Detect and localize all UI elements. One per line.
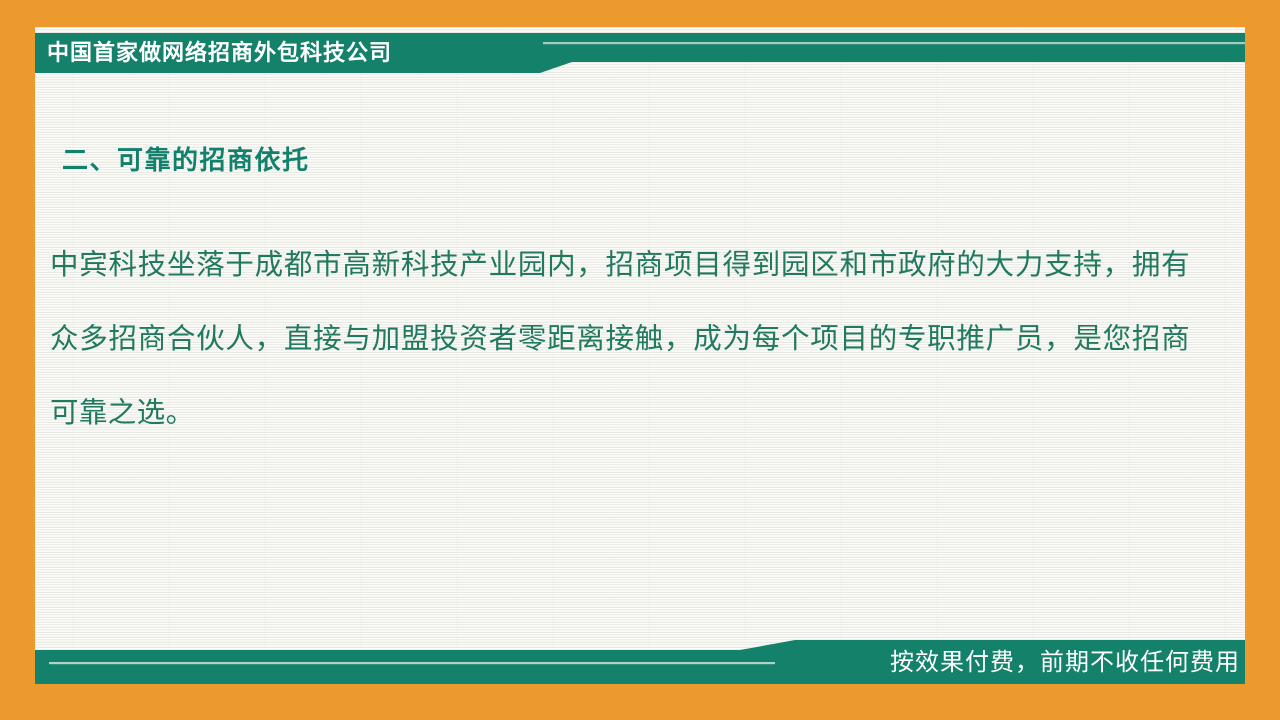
footer-tagline: 按效果付费，前期不收任何费用: [890, 647, 1240, 679]
body-paragraph: 中宾科技坐落于成都市高新科技产业园内，招商项目得到园区和市政府的大力支持，拥有众…: [50, 228, 1190, 450]
section-heading: 二、可靠的招商依托: [62, 140, 310, 177]
slide-canvas: 中国首家做网络招商外包科技公司 二、可靠的招商依托 中宾科技坐落于成都市高新科技…: [0, 0, 1280, 720]
header-title: 中国首家做网络招商外包科技公司: [47, 38, 392, 68]
